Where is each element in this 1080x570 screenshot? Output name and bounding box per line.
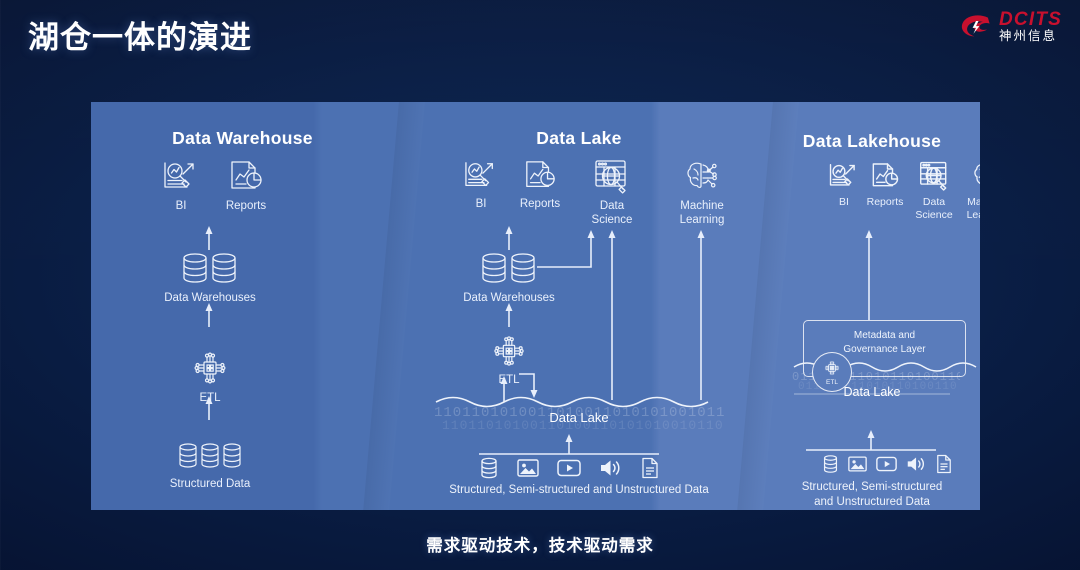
node-structured-data: Structured Data bbox=[139, 442, 281, 491]
structured-cylinders-icon bbox=[177, 442, 243, 472]
sources-label: Structured, Semi-structured and Unstruct… bbox=[764, 480, 980, 509]
database-icon bbox=[822, 454, 839, 474]
lake-label: Data Lake bbox=[394, 410, 764, 425]
node-etl: ETL bbox=[179, 350, 241, 405]
database-icon bbox=[479, 457, 499, 479]
node-data-science: Data Science bbox=[907, 160, 961, 222]
brand-logo: DCITS 神州信息 bbox=[959, 10, 1062, 44]
metadata-layer-line1: Metadata and bbox=[804, 329, 965, 343]
report-document-piechart-icon bbox=[228, 160, 264, 194]
node-reports: Reports bbox=[857, 162, 913, 209]
node-label: Data Warehouses bbox=[139, 291, 281, 305]
lake-label: Data Lake bbox=[764, 385, 980, 399]
machine-learning-brain-icon bbox=[684, 158, 720, 194]
page-title: 湖仓一体的演进 bbox=[28, 12, 252, 57]
video-icon bbox=[876, 456, 897, 472]
node-data-warehouses: Data Warehouses bbox=[139, 252, 281, 305]
bi-chart-magnifier-icon bbox=[463, 160, 499, 192]
database-cylinders-icon bbox=[179, 252, 241, 286]
lakehouse-evolution-diagram: Data Warehouse bbox=[91, 102, 980, 510]
node-bi: BI bbox=[153, 160, 209, 213]
node-etl: ETL bbox=[479, 334, 539, 387]
panel-data-warehouse: Data Warehouse bbox=[91, 102, 394, 510]
node-label: Machine Learning bbox=[956, 196, 980, 222]
report-document-piechart-icon bbox=[523, 160, 557, 192]
panel-data-lake: Data Lake bbox=[394, 102, 764, 510]
panel-data-lakehouse: Data Lakehouse BI bbox=[764, 102, 980, 510]
node-data-warehouses: Data Warehouses bbox=[438, 252, 580, 305]
sources-label: Structured, Semi-structured and Unstruct… bbox=[394, 484, 764, 496]
logo-chinese-text: 神州信息 bbox=[999, 30, 1062, 43]
node-reports: Reports bbox=[211, 160, 281, 213]
footer-caption: 需求驱动技术，技术驱动需求 bbox=[0, 532, 1080, 556]
bi-chart-magnifier-icon bbox=[828, 162, 860, 191]
node-bi: BI bbox=[454, 160, 508, 211]
node-label: Reports bbox=[857, 196, 913, 209]
audio-speaker-icon bbox=[599, 458, 623, 478]
node-label: ETL bbox=[179, 391, 241, 405]
source-icons-row bbox=[822, 454, 952, 474]
node-machine-learning: Machine Learning bbox=[668, 158, 736, 227]
image-icon bbox=[517, 458, 539, 478]
logo-english-text: DCITS bbox=[999, 10, 1062, 30]
node-label: Structured Data bbox=[139, 477, 281, 491]
etl-chip-icon bbox=[492, 334, 526, 368]
document-icon bbox=[641, 457, 659, 479]
machine-learning-brain-icon bbox=[971, 160, 980, 191]
node-machine-learning: Machine Learning bbox=[956, 160, 980, 222]
node-label: Machine Learning bbox=[668, 199, 736, 227]
sources-label-line1: Structured, Semi-structured bbox=[764, 480, 980, 495]
audio-speaker-icon bbox=[906, 455, 927, 473]
node-label: Reports bbox=[507, 197, 573, 211]
report-document-piechart-icon bbox=[870, 162, 900, 191]
image-icon bbox=[848, 455, 867, 473]
bi-chart-magnifier-icon bbox=[162, 160, 200, 194]
node-label: BI bbox=[153, 199, 209, 213]
sources-label-line2: and Unstructured Data bbox=[764, 495, 980, 510]
node-label: BI bbox=[454, 197, 508, 211]
panel-title-data-warehouse: Data Warehouse bbox=[91, 128, 394, 149]
dcits-swoosh-icon bbox=[959, 10, 993, 44]
etl-chip-icon bbox=[822, 358, 842, 378]
node-label: ETL bbox=[479, 373, 539, 387]
source-icons-row bbox=[479, 457, 659, 479]
document-icon bbox=[936, 454, 952, 474]
node-label: Reports bbox=[211, 199, 281, 213]
panel-title-data-lake: Data Lake bbox=[394, 128, 764, 149]
node-label: Data Science bbox=[907, 196, 961, 222]
video-icon bbox=[557, 459, 581, 477]
database-cylinders-icon bbox=[478, 252, 540, 286]
data-science-globe-icon bbox=[593, 158, 631, 194]
node-label: Data Warehouses bbox=[438, 291, 580, 305]
node-reports: Reports bbox=[507, 160, 573, 211]
panel-title-data-lakehouse: Data Lakehouse bbox=[764, 131, 980, 152]
node-label: Data Science bbox=[579, 199, 645, 227]
data-science-globe-icon bbox=[918, 160, 951, 191]
node-data-science: Data Science bbox=[579, 158, 645, 227]
etl-chip-icon bbox=[192, 350, 228, 386]
